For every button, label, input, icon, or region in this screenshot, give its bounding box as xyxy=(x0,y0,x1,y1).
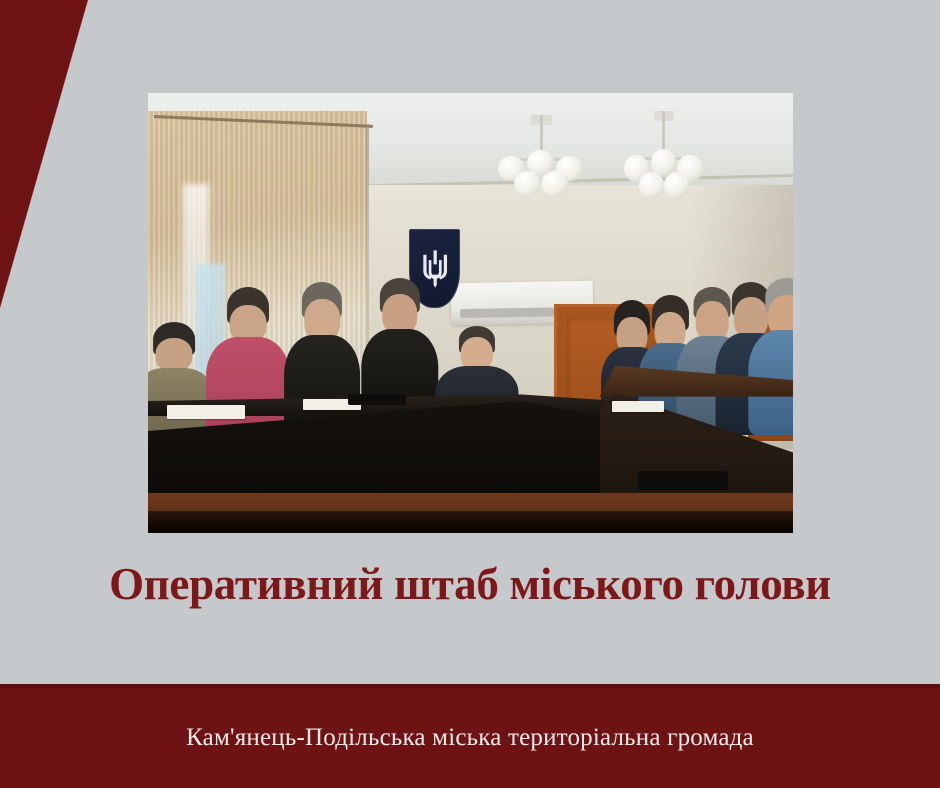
documents-on-table xyxy=(167,405,244,419)
meeting-photo xyxy=(148,93,793,533)
participant-right-5 xyxy=(748,278,793,432)
corner-wedge-decoration xyxy=(0,0,95,312)
chandelier-bulb xyxy=(639,172,664,199)
documents-on-table xyxy=(612,401,664,412)
floor-shadow xyxy=(148,511,793,533)
participant-left-1 xyxy=(148,322,213,436)
folder-on-table xyxy=(348,394,406,405)
poster-canvas: Оперативний штаб міського голови Кам'яне… xyxy=(0,0,940,788)
chandelier-right xyxy=(622,111,706,217)
page-title: Оперативний штаб міського голови xyxy=(0,556,940,612)
footer-community-name: Кам'янець-Подільська міська територіальн… xyxy=(186,724,754,752)
footer-banner: Кам'янець-Подільська міська територіальн… xyxy=(0,684,940,788)
chandelier-left xyxy=(496,115,586,212)
folder-on-table xyxy=(638,471,728,489)
chandelier-bulb xyxy=(514,171,541,196)
chandelier-bulb xyxy=(541,171,568,196)
photo-scene xyxy=(148,93,793,533)
chandelier-bulb xyxy=(664,172,689,199)
